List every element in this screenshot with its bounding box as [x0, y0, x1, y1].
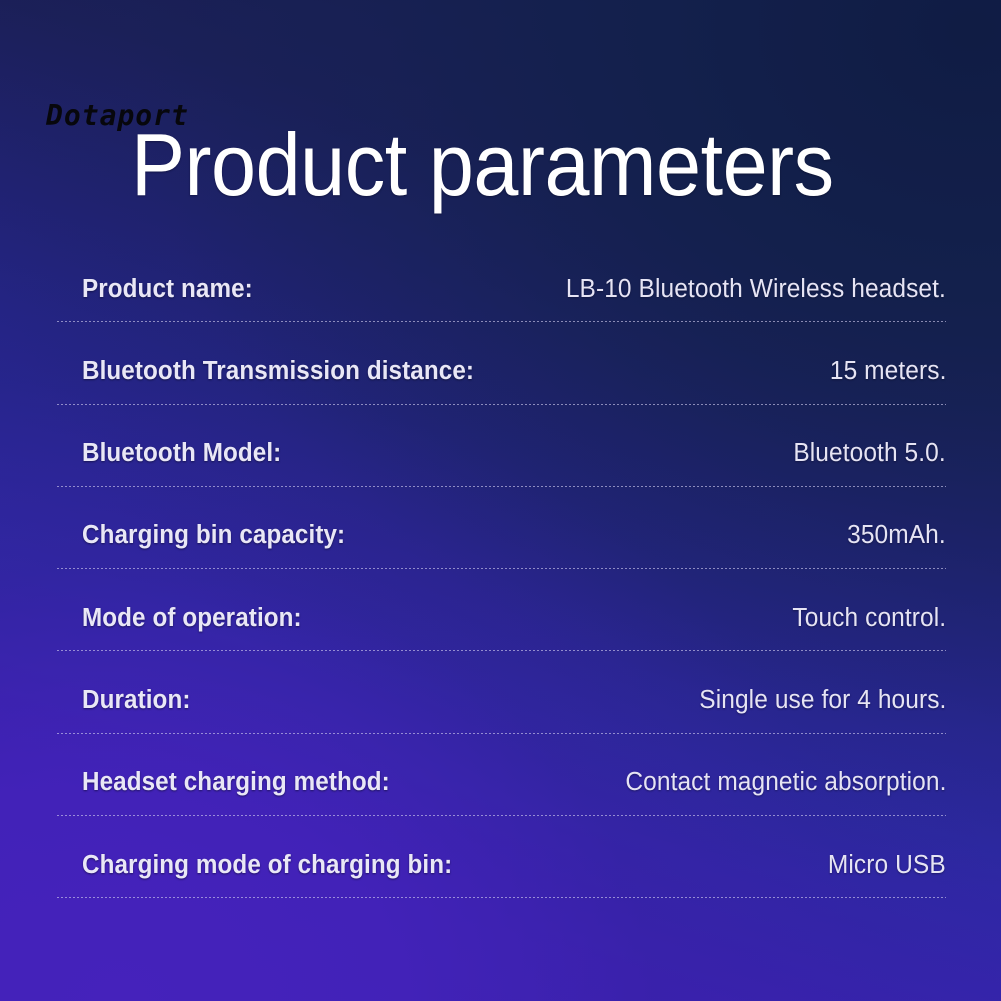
spec-value: 15 meters. [829, 357, 946, 386]
table-row: Headset charging method: Contact magneti… [57, 750, 946, 832]
spec-value: LB-10 Bluetooth Wireless headset. [566, 275, 946, 304]
spec-label: Bluetooth Model: [82, 439, 281, 468]
row-divider [57, 321, 946, 322]
table-row: Product name: LB-10 Bluetooth Wireless h… [57, 256, 946, 338]
specifications-table: Product name: LB-10 Bluetooth Wireless h… [57, 256, 946, 914]
row-divider [57, 404, 946, 405]
spec-label: Bluetooth Transmission distance: [82, 357, 474, 386]
spec-label: Duration: [82, 686, 191, 715]
table-row: Charging bin capacity: 350mAh. [57, 503, 946, 585]
table-row: Duration: Single use for 4 hours. [57, 667, 946, 749]
spec-value: 350mAh. [847, 521, 946, 550]
spec-value: Micro USB [828, 851, 946, 880]
row-divider [57, 486, 946, 487]
row-divider [57, 650, 946, 651]
row-divider [57, 733, 946, 734]
spec-value: Bluetooth 5.0. [794, 439, 946, 468]
table-row: Bluetooth Model: Bluetooth 5.0. [57, 421, 946, 503]
spec-label: Charging mode of charging bin: [82, 851, 452, 880]
product-parameters-page: Dotaport Product parameters Product name… [0, 0, 1001, 1001]
table-row: Bluetooth Transmission distance: 15 mete… [57, 338, 946, 420]
spec-label: Charging bin capacity: [82, 521, 345, 550]
table-row: Mode of operation: Touch control. [57, 585, 946, 667]
row-divider [57, 815, 946, 816]
spec-value: Single use for 4 hours. [699, 686, 946, 715]
spec-label: Mode of operation: [82, 604, 302, 633]
row-divider [57, 568, 946, 569]
table-row: Charging mode of charging bin: Micro USB [57, 832, 946, 914]
page-title: Product parameters [131, 119, 834, 211]
spec-label: Headset charging method: [82, 768, 390, 797]
spec-label: Product name: [82, 275, 253, 304]
watermark-dotaport: Dotaport [46, 99, 189, 132]
row-divider [57, 897, 946, 898]
spec-value: Touch control. [792, 604, 946, 633]
spec-value: Contact magnetic absorption. [625, 768, 946, 797]
